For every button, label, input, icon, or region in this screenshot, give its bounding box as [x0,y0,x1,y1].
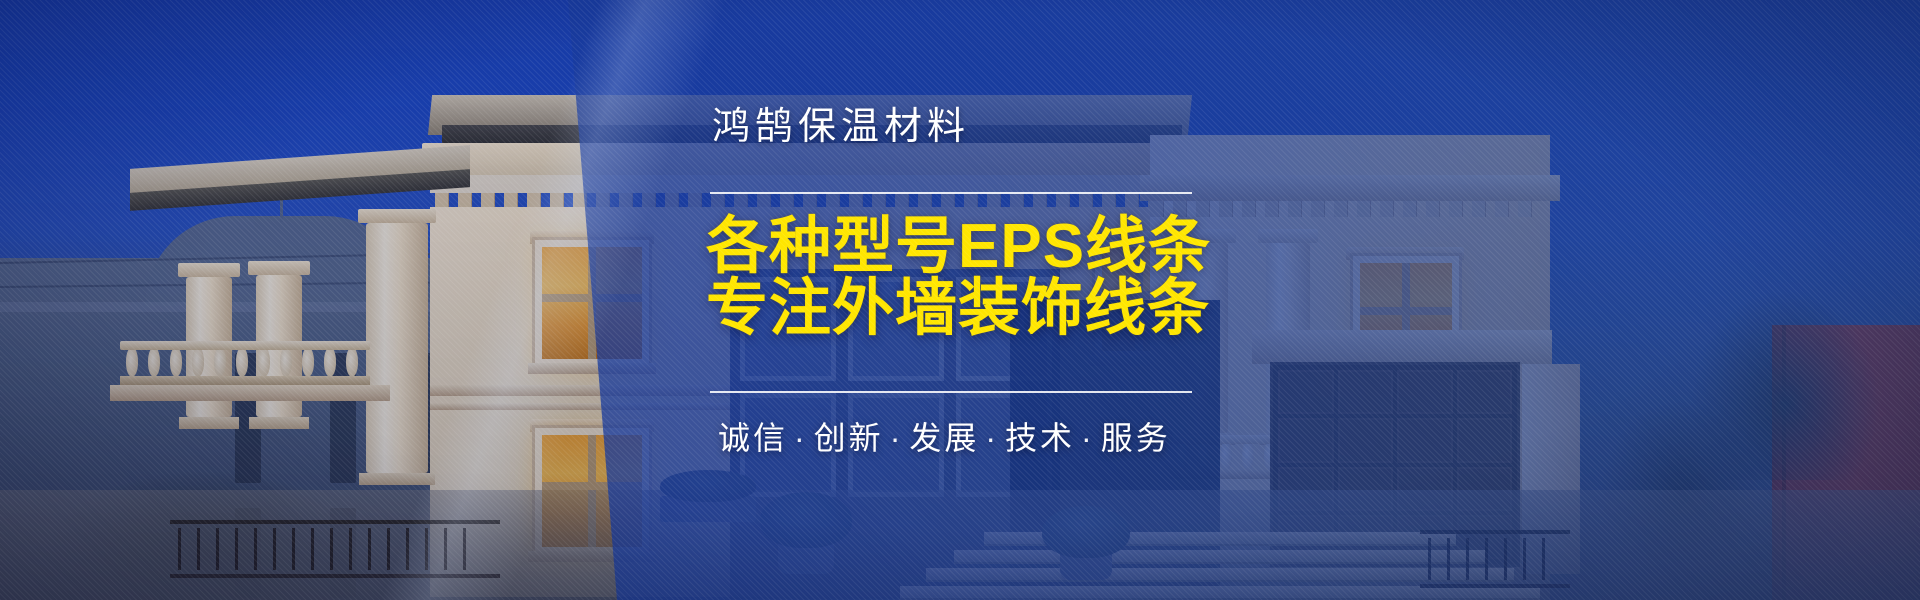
tagline-separator: · [1075,420,1101,456]
tagline-item: 创新 [814,420,884,456]
tagline-item: 服务 [1101,420,1171,456]
divider-bottom [710,391,1192,393]
tagline-item: 技术 [1005,420,1075,456]
headline-line-2: 专注外墙装饰线条 [706,278,1210,340]
promo-banner: 鸿鹄保温材料 各种型号EPS线条 专注外墙装饰线条 诚信·创新·发展·技术·服务 [0,0,1920,600]
brand-name: 鸿鹄保温材料 [712,108,970,146]
tagline-item: 诚信 [718,420,788,456]
tagline-separator: · [979,420,1005,456]
banner-content: 鸿鹄保温材料 各种型号EPS线条 专注外墙装饰线条 诚信·创新·发展·技术·服务 [712,0,1412,600]
tagline-item: 发展 [909,420,979,456]
tagline-separator: · [884,420,910,456]
headline-line-1: 各种型号EPS线条 [706,216,1211,278]
divider-top [710,192,1192,194]
tagline: 诚信·创新·发展·技术·服务 [718,422,1171,454]
tagline-separator: · [788,420,814,456]
